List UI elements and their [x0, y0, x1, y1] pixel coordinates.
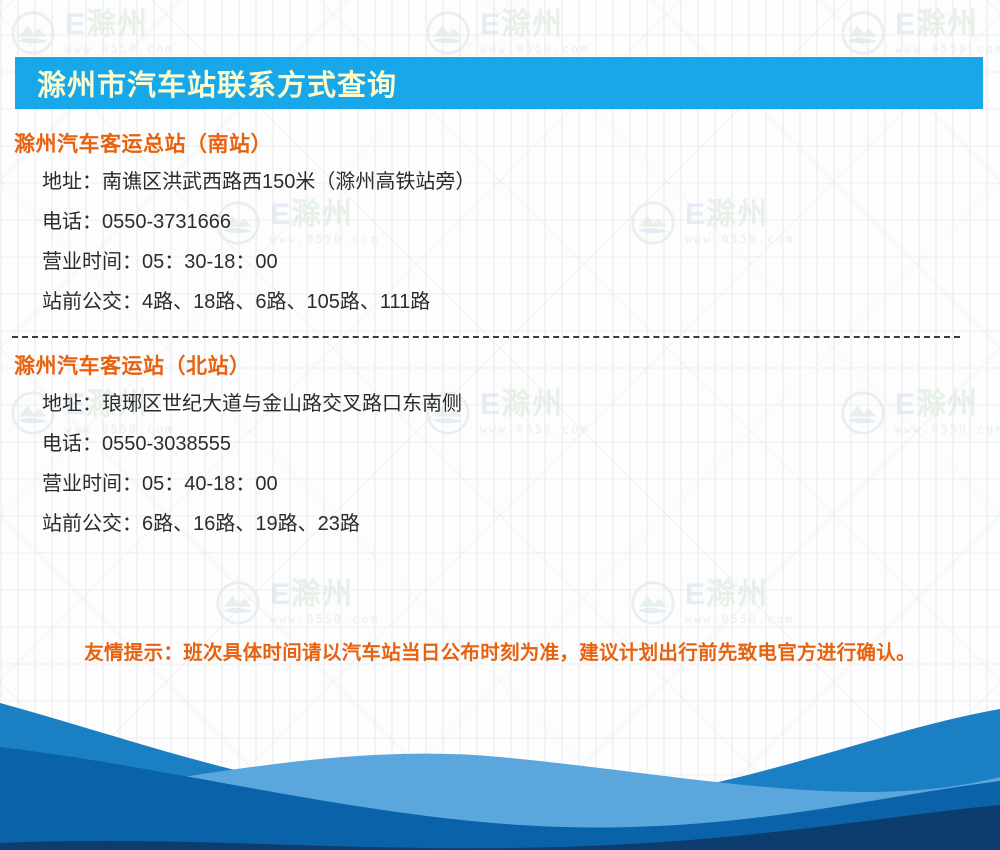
- station-block-north: 滁州汽车客运站（北站） 地址：琅琊区世纪大道与金山路交叉路口东南侧 电话：055…: [0, 350, 1000, 544]
- watermark-brand-name: 滁州: [86, 8, 148, 41]
- watermark-logo: [425, 10, 471, 56]
- station-detail-address: 地址：琅琊区世纪大道与金山路交叉路口东南侧: [42, 384, 1000, 424]
- watermark-tile: E滁州www.0550.com: [425, 10, 589, 56]
- poster-canvas: E滁州www.0550.comE滁州www.0550.comE滁州www.055…: [0, 0, 1000, 850]
- watermark-brand-prefix: E: [270, 578, 291, 611]
- watermark-brand: E滁州: [895, 10, 1000, 40]
- watermark-brand-name: 滁州: [706, 578, 768, 611]
- station-detail-buses: 站前公交：4路、18路、6路、105路、111路: [42, 282, 1000, 322]
- station-detail-list: 地址：南谯区洪武西路西150米（滁州高铁站旁） 电话：0550-3731666 …: [0, 162, 1000, 322]
- stations-list: 滁州汽车客运总站（南站） 地址：南谯区洪武西路西150米（滁州高铁站旁） 电话：…: [0, 128, 1000, 544]
- watermark-brand-name: 滁州: [291, 578, 353, 611]
- mountain-cloud-circle-icon: [630, 580, 676, 626]
- watermark-brand: E滁州: [65, 10, 174, 40]
- mountain-cloud-circle-icon: [10, 10, 56, 56]
- watermark-logo: [215, 580, 261, 626]
- watermark-brand: E滁州: [270, 580, 379, 610]
- watermark-brand-prefix: E: [65, 8, 86, 41]
- watermark-tile: E滁州www.0550.com: [215, 580, 379, 626]
- page-title: 滁州市汽车站联系方式查询: [37, 62, 397, 104]
- station-detail-address: 地址：南谯区洪武西路西150米（滁州高铁站旁）: [42, 162, 1000, 202]
- friendly-tip-text: 友情提示：班次具体时间请以汽车站当日公布时刻为准，建议计划出行前先致电官方进行确…: [0, 636, 1000, 665]
- watermark-tile: E滁州www.0550.com: [630, 580, 794, 626]
- station-detail-list: 地址：琅琊区世纪大道与金山路交叉路口东南侧 电话：0550-3038555 营业…: [0, 384, 1000, 544]
- station-detail-hours: 营业时间：05：40-18：00: [42, 464, 1000, 504]
- watermark-tile: E滁州www.0550.com: [840, 10, 1000, 56]
- station-name: 滁州汽车客运站（北站）: [14, 350, 1000, 380]
- section-divider: [12, 336, 960, 338]
- watermark-text: E滁州www.0550.com: [480, 10, 589, 56]
- watermark-brand-prefix: E: [895, 8, 916, 41]
- watermark-logo: [840, 10, 886, 56]
- watermark-url: www.0550.com: [65, 44, 174, 56]
- watermark-url: www.0550.com: [480, 44, 589, 56]
- watermark-text: E滁州www.0550.com: [895, 10, 1000, 56]
- watermark-url: www.0550.com: [685, 614, 794, 626]
- watermark-text: E滁州www.0550.com: [65, 10, 174, 56]
- station-detail-phone: 电话：0550-3038555: [42, 424, 1000, 464]
- mountain-cloud-circle-icon: [215, 580, 261, 626]
- watermark-brand: E滁州: [685, 580, 794, 610]
- watermark-url: www.0550.com: [270, 614, 379, 626]
- mountain-cloud-circle-icon: [425, 10, 471, 56]
- watermark-brand-name: 滁州: [501, 8, 563, 41]
- station-block-south: 滁州汽车客运总站（南站） 地址：南谯区洪武西路西150米（滁州高铁站旁） 电话：…: [0, 128, 1000, 322]
- watermark-brand-name: 滁州: [916, 8, 978, 41]
- watermark-text: E滁州www.0550.com: [685, 580, 794, 626]
- watermark-logo: [630, 580, 676, 626]
- watermark-brand: E滁州: [480, 10, 589, 40]
- watermark-url: www.0550.com: [895, 44, 1000, 56]
- station-name: 滁州汽车客运总站（南站）: [14, 128, 1000, 158]
- watermark-logo: [10, 10, 56, 56]
- watermark-text: E滁州www.0550.com: [270, 580, 379, 626]
- station-detail-hours: 营业时间：05：30-18：00: [42, 242, 1000, 282]
- station-detail-buses: 站前公交：6路、16路、19路、23路: [42, 504, 1000, 544]
- watermark-brand-prefix: E: [480, 8, 501, 41]
- bottom-wave-decoration: [0, 685, 1000, 850]
- header-bar: 滁州市汽车站联系方式查询: [15, 57, 983, 109]
- watermark-brand-prefix: E: [685, 578, 706, 611]
- watermark-tile: E滁州www.0550.com: [10, 10, 174, 56]
- station-detail-phone: 电话：0550-3731666: [42, 202, 1000, 242]
- mountain-cloud-circle-icon: [840, 10, 886, 56]
